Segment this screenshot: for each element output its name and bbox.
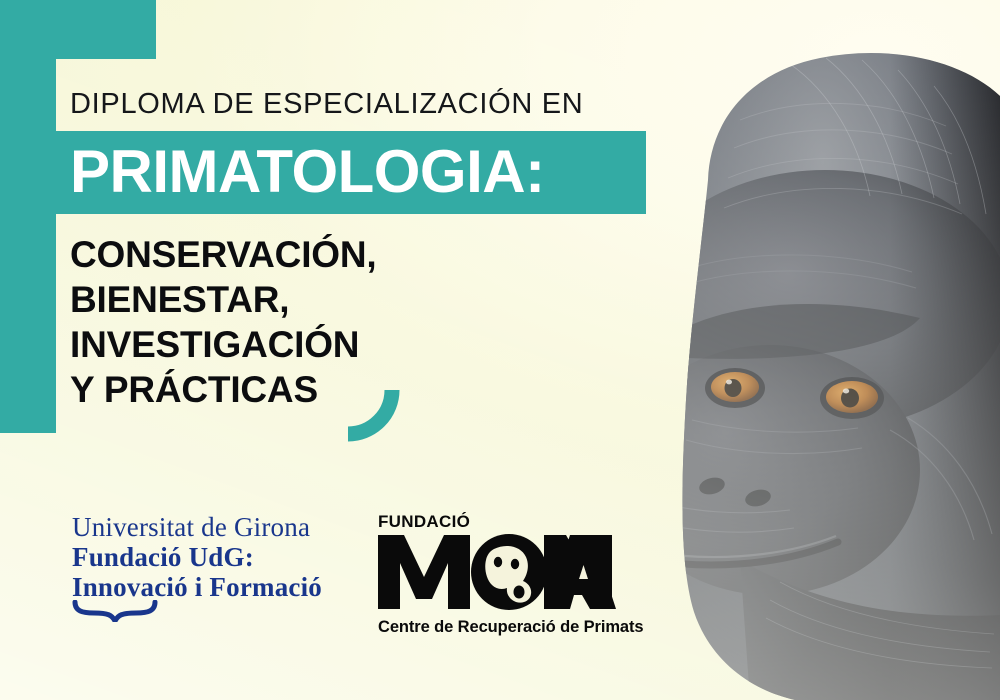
subtitle-line-4: Y PRÁCTICAS: [70, 367, 376, 412]
teal-side-bar: [0, 0, 56, 433]
udg-logo-line-1: Universitat de Girona: [72, 512, 322, 542]
page-title: PRIMATOLOGIA:: [70, 138, 545, 206]
subtitle-line-1: CONSERVACIÓN,: [70, 232, 376, 277]
subtitle-line-2: BIENESTAR,: [70, 277, 376, 322]
poster-banner: DIPLOMA DE ESPECIALIZACIÓN EN PRIMATOLOG…: [0, 0, 1000, 700]
mona-logo: FUNDACIÓ: [376, 512, 638, 637]
udg-logo-line-2: Fundació UdG:: [72, 542, 322, 572]
udg-brace-icon: [72, 600, 322, 622]
kicker-text: DIPLOMA DE ESPECIALIZACIÓN EN: [70, 88, 583, 121]
mona-logo-wordmark: [376, 533, 638, 616]
subtitle-line-3: INVESTIGACIÓN: [70, 322, 376, 367]
mona-logo-tagline: Centre de Recuperació de Primats: [378, 618, 638, 637]
subtitle-block: CONSERVACIÓN, BIENESTAR, INVESTIGACIÓN Y…: [70, 232, 376, 412]
udg-logo: Universitat de Girona Fundació UdG: Inno…: [72, 512, 322, 622]
mona-logo-fundacio: FUNDACIÓ: [378, 512, 638, 532]
udg-logo-line-3: Innovació i Formació: [72, 572, 322, 602]
